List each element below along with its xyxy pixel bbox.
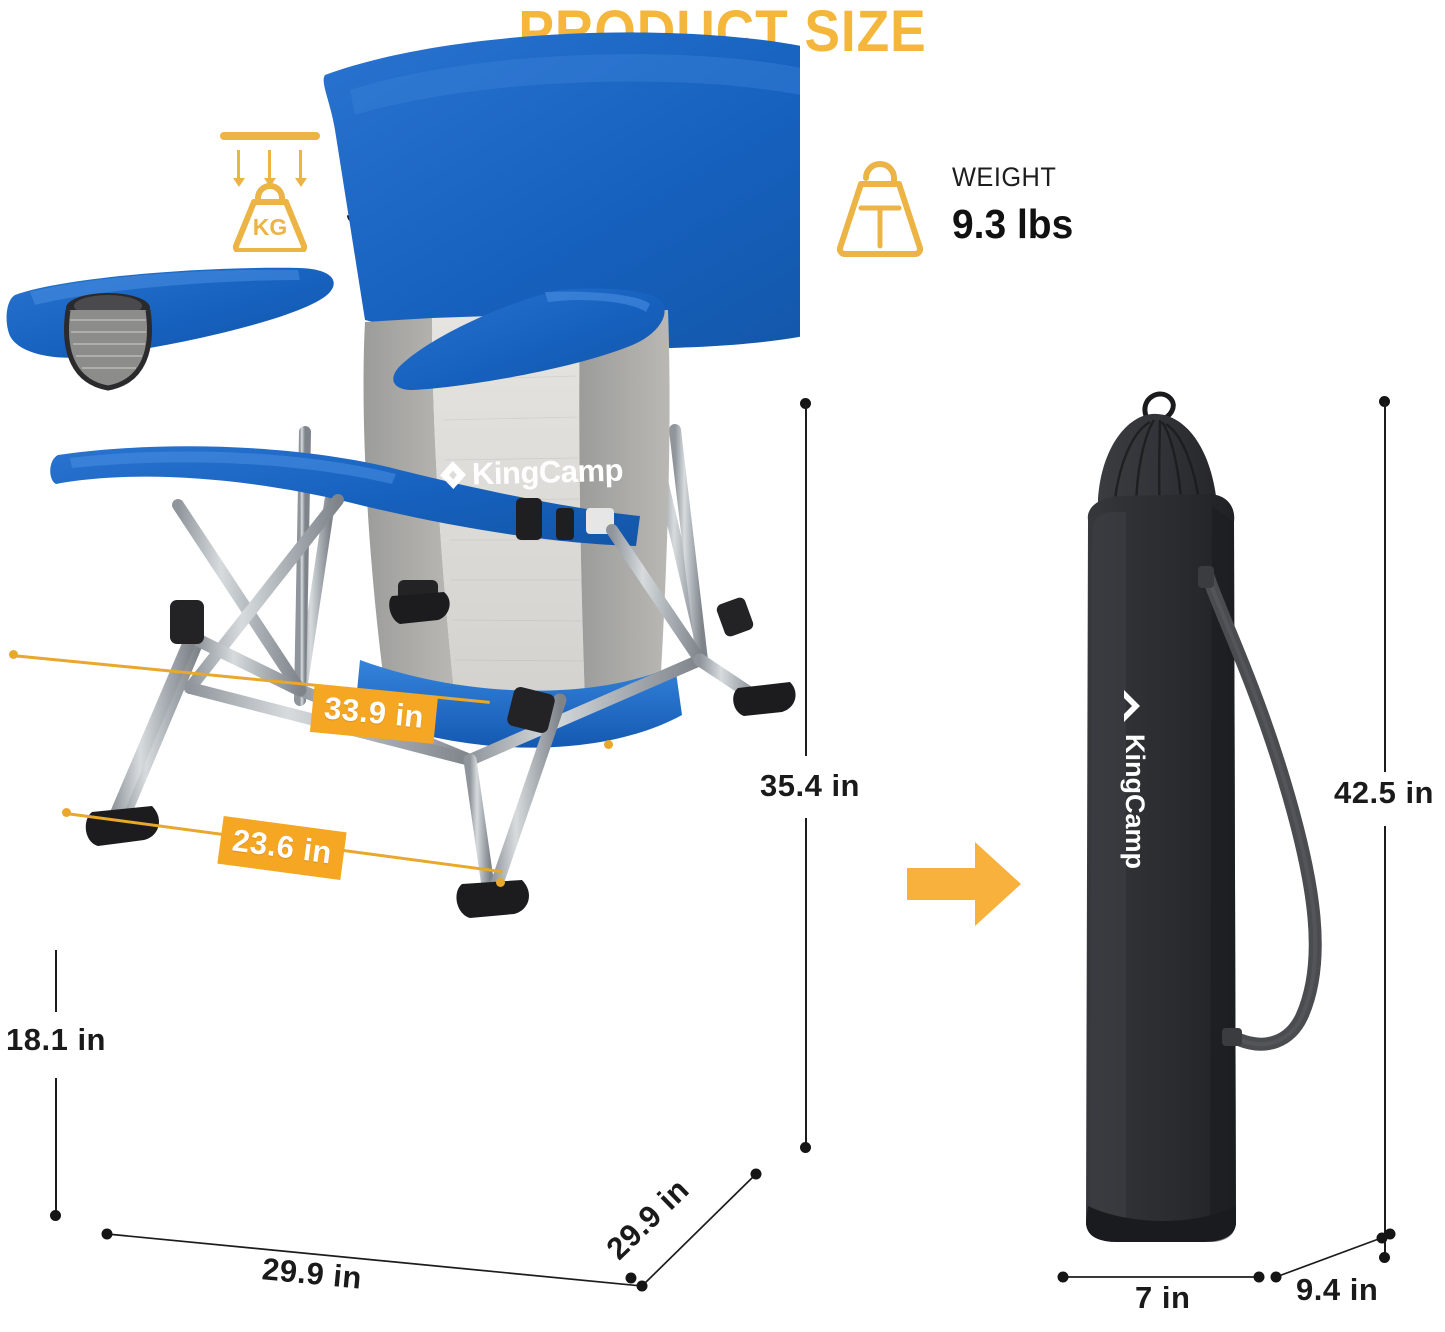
spec-value: 9.3 lbs <box>952 201 1073 248</box>
dimension-endpoint <box>50 1210 61 1221</box>
kingcamp-diamond-icon <box>438 459 469 492</box>
right-arrow-icon <box>905 836 1023 932</box>
spec-weight: WEIGHT 9.3 lbs <box>826 150 1080 260</box>
chair-brand-text: KingCamp <box>472 453 624 493</box>
dimension-endpoint <box>62 808 71 817</box>
dimension-label-bag-depth: 9.4 in <box>1296 1272 1378 1308</box>
dimension-line-bag-length <box>1384 402 1386 772</box>
dimension-label-height: 35.4 in <box>760 768 860 804</box>
weight-icon <box>826 150 934 260</box>
chair-illustration <box>0 0 800 970</box>
dimension-line-seat-height <box>55 950 57 1012</box>
dimension-line-seat-height <box>55 1078 57 1212</box>
weight-shape-icon <box>826 150 934 260</box>
dimension-label-seat-height: 18.1 in <box>6 1022 106 1058</box>
spec-label: WEIGHT <box>952 162 1072 193</box>
dimension-line-bag-length <box>1384 826 1386 1254</box>
bag-floor-dimension-lines <box>1030 1200 1445 1332</box>
dimension-label-bag-length: 42.5 in <box>1334 775 1434 811</box>
dimension-line-height <box>805 818 807 1144</box>
dimension-label-bag-width: 7 in <box>1135 1280 1190 1316</box>
chair-brand-logo: KingCamp <box>438 453 624 494</box>
dimension-endpoint <box>9 650 18 659</box>
bag-illustration: KingCamp <box>1040 380 1370 1270</box>
dimension-endpoint <box>496 878 505 887</box>
dimension-endpoint <box>800 1142 811 1153</box>
svg-text:KingCamp: KingCamp <box>1120 734 1150 869</box>
dimension-line-height <box>805 404 807 756</box>
dimension-endpoint <box>604 740 613 749</box>
